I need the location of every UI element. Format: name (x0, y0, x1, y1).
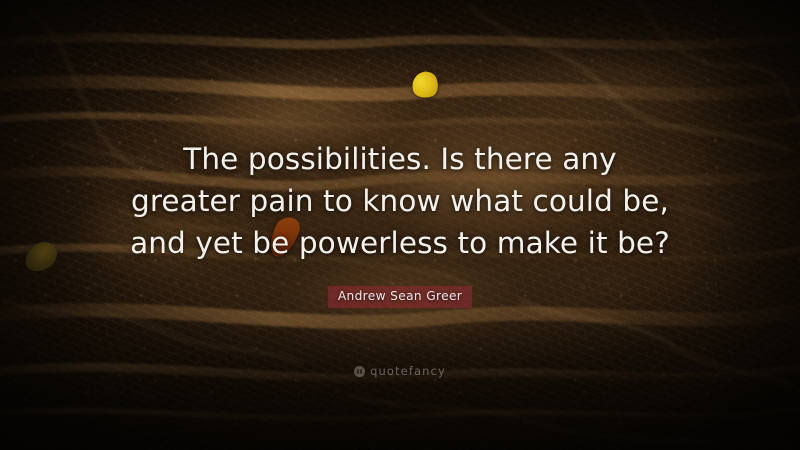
watermark: quotefancy (0, 364, 800, 378)
quote-card: The possibilities. Is there any greater … (0, 0, 800, 450)
quotefancy-logo-icon (354, 366, 365, 377)
author-attribution: Andrew Sean Greer (0, 286, 800, 308)
quote-content: The possibilities. Is there any greater … (0, 0, 800, 450)
watermark-text: quotefancy (370, 364, 446, 378)
quote-text: The possibilities. Is there any greater … (0, 138, 800, 264)
author-name: Andrew Sean Greer (328, 286, 472, 308)
